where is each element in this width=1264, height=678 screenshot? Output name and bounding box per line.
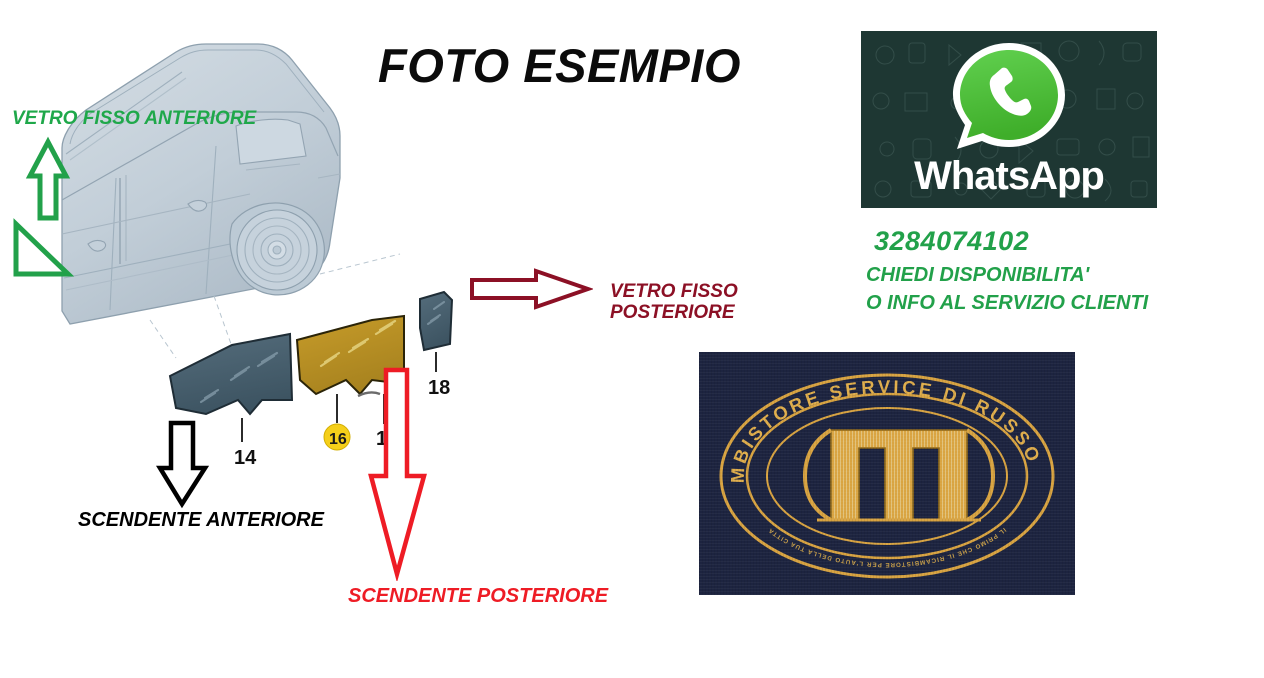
whatsapp-phone-bubble-icon xyxy=(943,37,1075,157)
label-scendente-posteriore: SCENDENTE POSTERIORE xyxy=(348,585,608,607)
label-line-2: POSTERIORE xyxy=(610,302,738,323)
label-vetro-fisso-posteriore: VETRO FISSO POSTERIORE xyxy=(610,281,738,324)
shop-logo-banner: MRICAMBISTORE SERVICE DI RUSSO MARCO IL … xyxy=(699,352,1075,595)
whatsapp-banner: WhatsApp xyxy=(861,31,1157,208)
right-arrow-dark-red-icon xyxy=(468,268,593,315)
contact-line-2: O INFO AL SERVIZIO CLIENTI xyxy=(866,292,1148,315)
label-scendente-anteriore: SCENDENTE ANTERIORE xyxy=(78,509,324,531)
label-line-1: VETRO FISSO xyxy=(610,281,738,302)
contact-line-1: CHIEDI DISPONIBILITA' xyxy=(866,264,1089,287)
svg-text:16: 16 xyxy=(329,431,347,448)
car-illustration xyxy=(62,44,340,324)
whatsapp-logo xyxy=(943,37,1075,162)
label-vetro-fisso-anteriore: VETRO FISSO ANTERIORE xyxy=(12,108,256,129)
down-arrow-black-icon xyxy=(152,418,214,515)
fabric-texture xyxy=(699,352,1075,595)
up-arrow-green-icon xyxy=(4,130,74,285)
down-arrow-red-icon xyxy=(360,366,438,586)
whatsapp-wordmark: WhatsApp xyxy=(861,154,1157,199)
svg-text:14: 14 xyxy=(234,447,257,469)
phone-number[interactable]: 3284074102 xyxy=(874,226,1029,257)
